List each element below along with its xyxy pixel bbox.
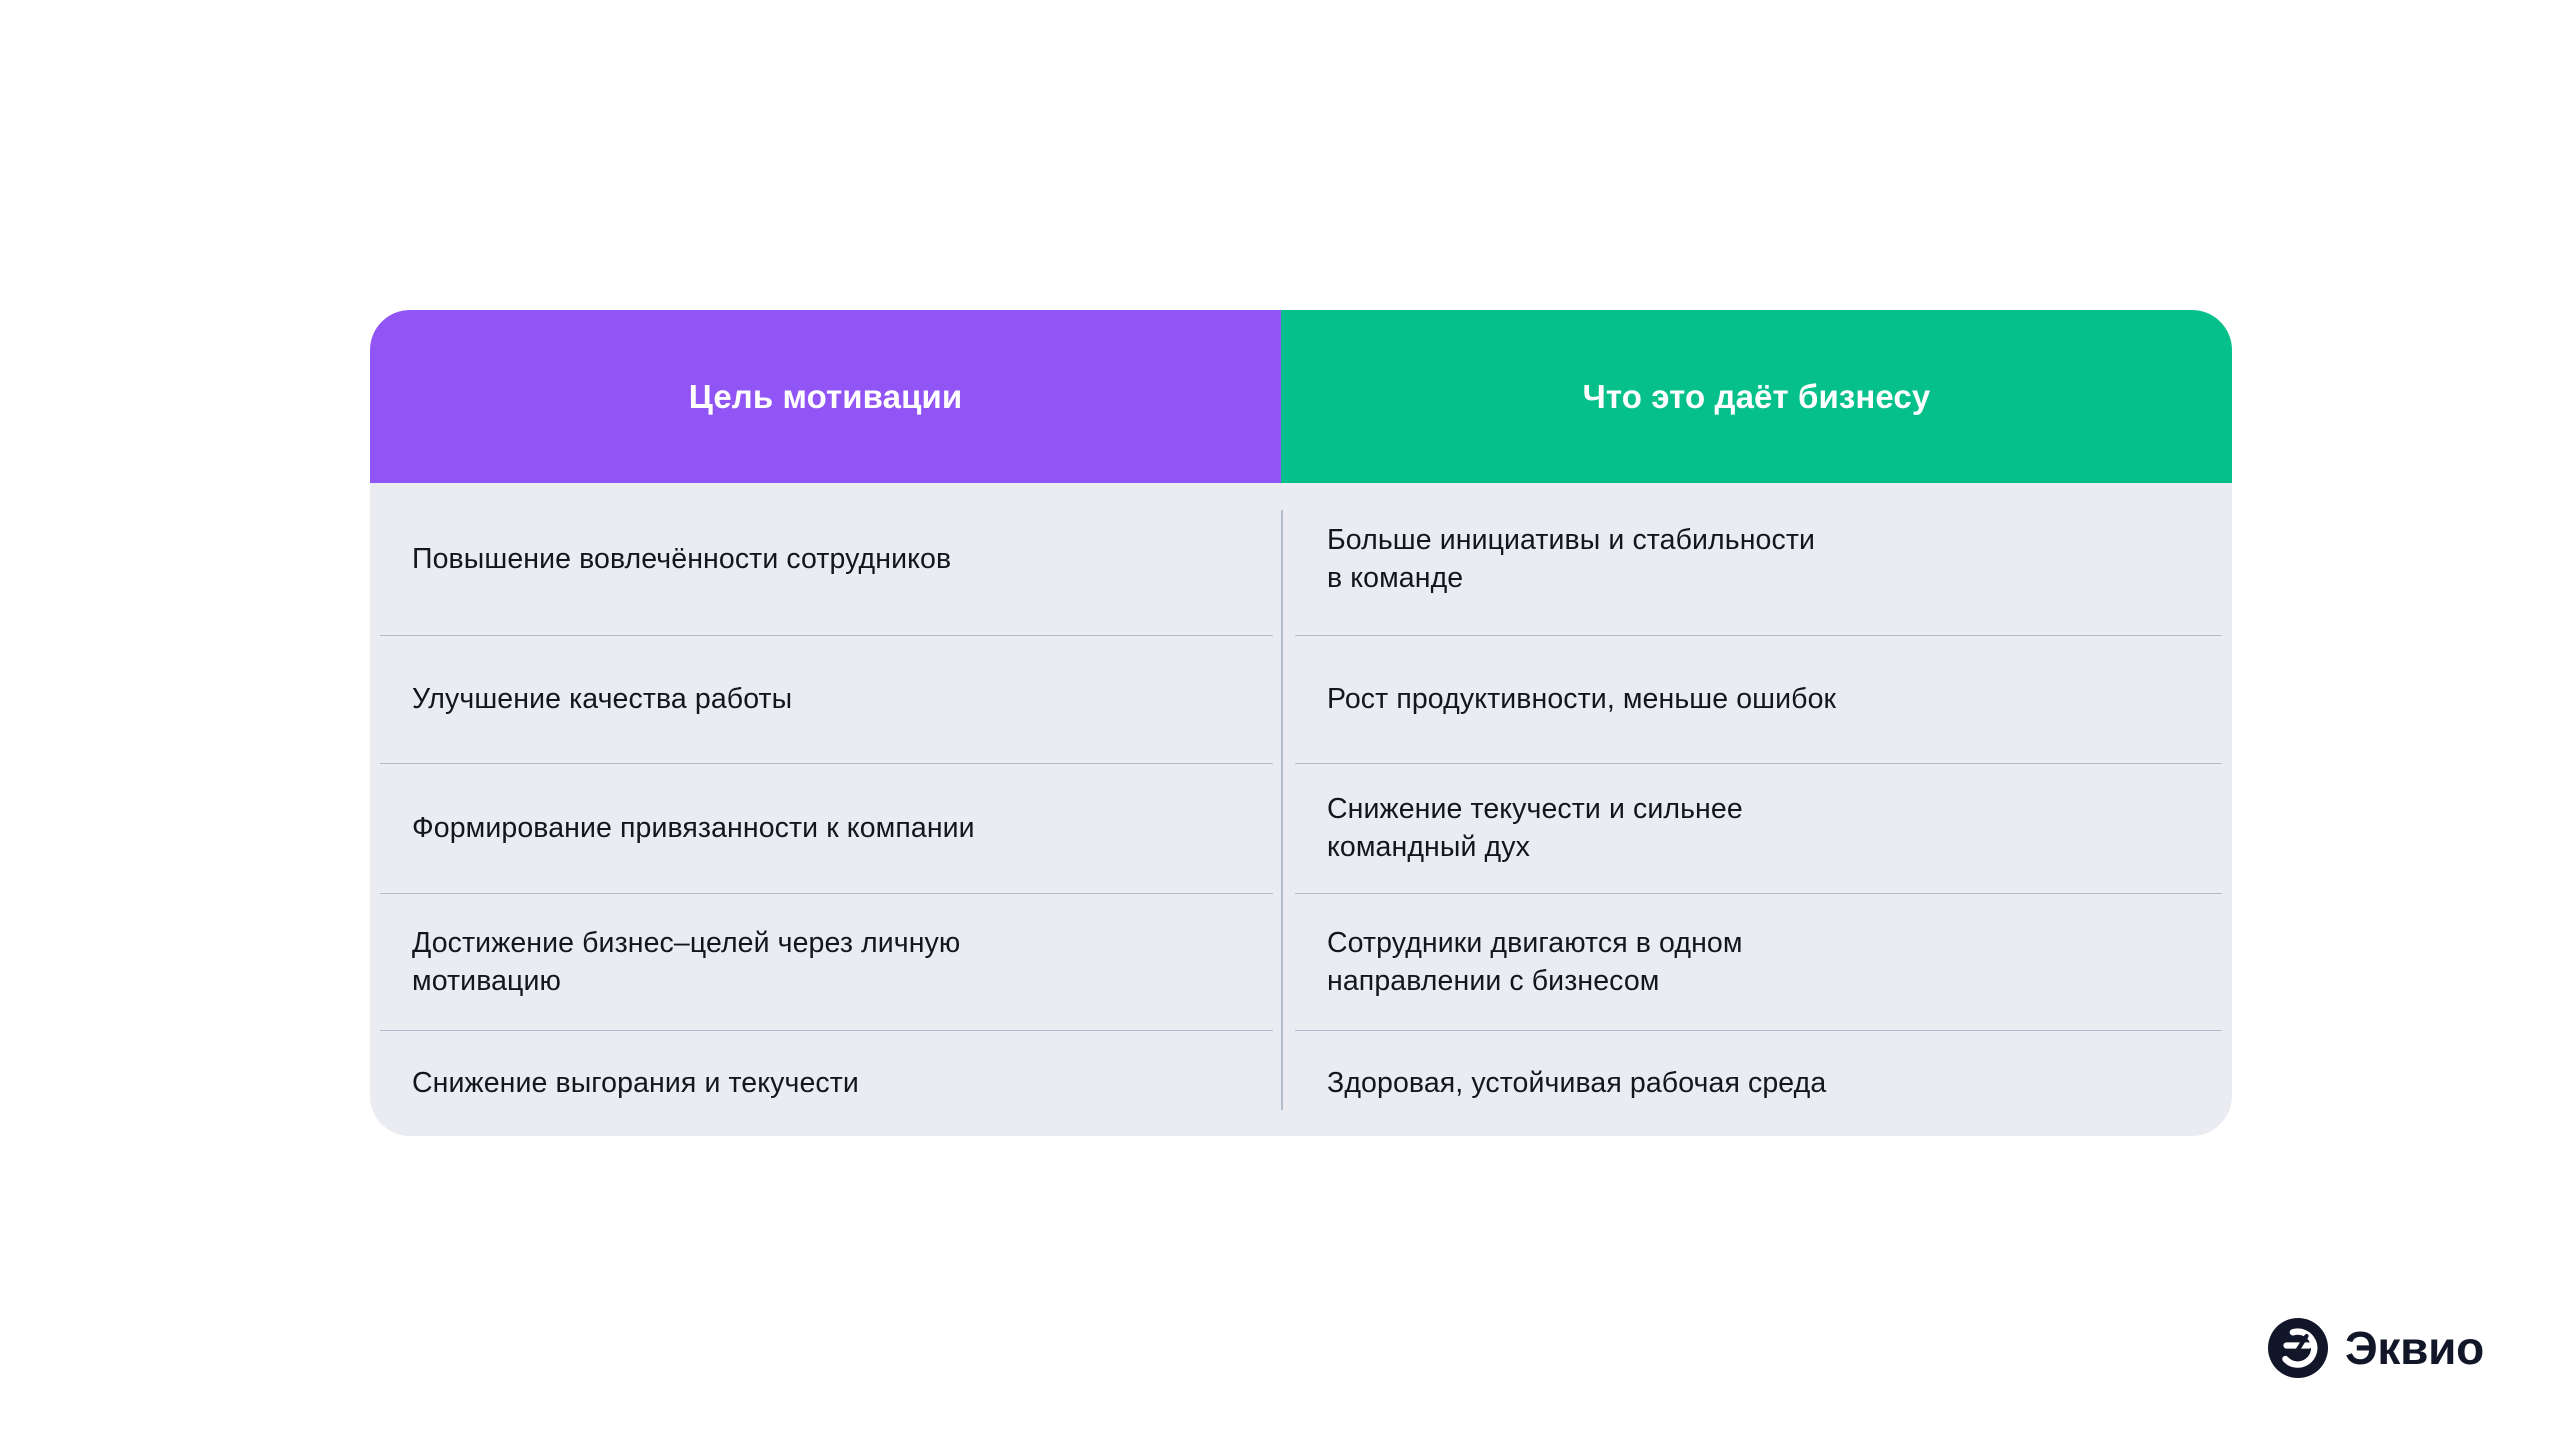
cell-goal-5: Снижение выгорания и текучести xyxy=(412,1065,859,1103)
cell-goal-2: Улучшение качества работы xyxy=(412,681,792,719)
cell-benefit-3: Снижение текучести и сильнее командный д… xyxy=(1327,791,1743,867)
table-row: Достижение бизнес–целей через личную мот… xyxy=(370,894,1281,1031)
slide-canvas: Цель мотивации Что это даёт бизнесу Повы… xyxy=(0,0,2560,1440)
table-row: Сотрудники двигаются в одном направлении… xyxy=(1281,894,2232,1031)
cell-goal-4: Достижение бизнес–целей через личную мот… xyxy=(412,925,960,1001)
cell-goal-3: Формирование привязанности к компании xyxy=(412,810,975,848)
cell-benefit-1-line-1: Больше инициативы и стабильности xyxy=(1327,522,1815,560)
table-row: Снижение выгорания и текучести xyxy=(370,1031,1281,1136)
table-header-label-goal: Цель мотивации xyxy=(689,378,963,416)
cell-benefit-1: Больше инициативы и стабильности в коман… xyxy=(1327,522,1815,598)
brand-logo: Эквио xyxy=(2268,1318,2484,1378)
cell-benefit-3-line-1: Снижение текучести и сильнее xyxy=(1327,791,1743,829)
table-column-benefit: Больше инициативы и стабильности в коман… xyxy=(1281,483,2232,1136)
cell-benefit-4: Сотрудники двигаются в одном направлении… xyxy=(1327,925,1743,1001)
table-header-row: Цель мотивации Что это даёт бизнесу xyxy=(370,310,2232,483)
cell-goal-4-line-2: мотивацию xyxy=(412,963,960,1001)
cell-benefit-5: Здоровая, устойчивая рабочая среда xyxy=(1327,1065,1826,1103)
cell-benefit-3-line-2: командный дух xyxy=(1327,829,1743,867)
cell-goal-4-line-1: Достижение бизнес–целей через личную xyxy=(412,925,960,963)
cell-goal-1: Повышение вовлечённости сотрудников xyxy=(412,541,951,579)
cell-benefit-4-line-2: направлении с бизнесом xyxy=(1327,963,1743,1001)
eqvio-circle-logo-icon xyxy=(2268,1318,2328,1378)
brand-name-label: Эквио xyxy=(2345,1325,2484,1371)
cell-benefit-2: Рост продуктивности, меньше ошибок xyxy=(1327,681,1836,719)
table-row: Рост продуктивности, меньше ошибок xyxy=(1281,636,2232,764)
cell-benefit-4-line-1: Сотрудники двигаются в одном xyxy=(1327,925,1743,963)
table-row: Формирование привязанности к компании xyxy=(370,764,1281,894)
table-row: Повышение вовлечённости сотрудников xyxy=(370,483,1281,636)
comparison-table: Цель мотивации Что это даёт бизнесу Повы… xyxy=(370,310,2232,1136)
table-body: Повышение вовлечённости сотрудников Улуч… xyxy=(370,483,2232,1136)
table-row: Улучшение качества работы xyxy=(370,636,1281,764)
table-row: Здоровая, устойчивая рабочая среда xyxy=(1281,1031,2232,1136)
table-header-cell-goal: Цель мотивации xyxy=(370,310,1281,483)
table-header-cell-benefit: Что это даёт бизнесу xyxy=(1281,310,2232,483)
table-row: Снижение текучести и сильнее командный д… xyxy=(1281,764,2232,894)
cell-benefit-1-line-2: в команде xyxy=(1327,560,1815,598)
table-column-goal: Повышение вовлечённости сотрудников Улуч… xyxy=(370,483,1281,1136)
table-row: Больше инициативы и стабильности в коман… xyxy=(1281,483,2232,636)
table-header-label-benefit: Что это даёт бизнесу xyxy=(1583,378,1931,416)
